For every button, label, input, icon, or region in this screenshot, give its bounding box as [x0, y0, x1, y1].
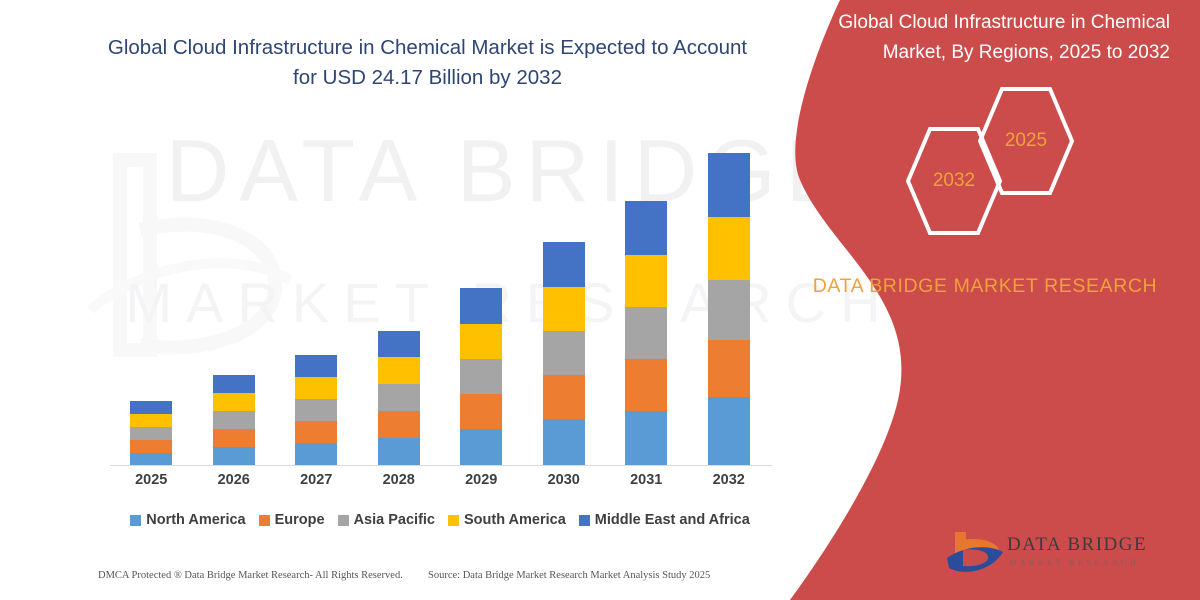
x-axis-label: 2031	[606, 472, 686, 496]
stacked-bar[interactable]	[295, 355, 337, 466]
legend-swatch-icon	[259, 515, 270, 526]
hexagon-start-year-label: 2025	[1005, 130, 1047, 152]
x-axis-label: 2027	[276, 472, 356, 496]
bar-segment[interactable]	[708, 340, 750, 397]
legend-item[interactable]: South America	[448, 512, 566, 528]
bar-group	[441, 288, 521, 466]
x-axis-label: 2028	[359, 472, 439, 496]
legend-item[interactable]: North America	[130, 512, 245, 528]
bar-series-container	[110, 140, 770, 466]
bar-segment[interactable]	[378, 331, 420, 357]
bar-segment[interactable]	[213, 447, 255, 466]
stacked-bar[interactable]	[460, 288, 502, 466]
bar-group	[111, 401, 191, 466]
bar-segment[interactable]	[543, 419, 585, 466]
legend-swatch-icon	[338, 515, 349, 526]
bar-segment[interactable]	[295, 399, 337, 421]
bar-segment[interactable]	[378, 357, 420, 384]
bar-segment[interactable]	[295, 355, 337, 377]
bar-group	[524, 242, 604, 466]
stacked-bar[interactable]	[130, 401, 172, 466]
bar-segment[interactable]	[625, 359, 667, 411]
bar-segment[interactable]	[708, 217, 750, 280]
legend-swatch-icon	[448, 515, 459, 526]
bar-segment[interactable]	[213, 411, 255, 429]
bar-segment[interactable]	[543, 242, 585, 287]
x-axis-label: 2030	[524, 472, 604, 496]
legend-label: Europe	[275, 512, 325, 528]
right-panel-content: Global Cloud Infrastructure in Chemical …	[770, 0, 1200, 600]
bar-segment[interactable]	[378, 438, 420, 466]
chart-title: Global Cloud Infrastructure in Chemical …	[95, 33, 760, 93]
x-axis-label: 2026	[194, 472, 274, 496]
bar-segment[interactable]	[130, 427, 172, 440]
infographic-page: DATA BRIDGE MARKET RESEARCH Global Cloud…	[0, 0, 1200, 600]
bar-segment[interactable]	[460, 429, 502, 466]
x-axis-tick-labels: 20252026202720282029203020312032	[110, 472, 770, 496]
source-note: Source: Data Bridge Market Research Mark…	[428, 570, 710, 581]
year-range-hexagons: 2032 2025	[900, 108, 1200, 238]
logo-title: DATA BRIDGE	[1007, 534, 1147, 556]
legend-label: Middle East and Africa	[595, 512, 750, 528]
legend-label: Asia Pacific	[354, 512, 435, 528]
bar-segment[interactable]	[130, 401, 172, 414]
bar-segment[interactable]	[625, 255, 667, 307]
legend-item[interactable]: Asia Pacific	[338, 512, 435, 528]
brand-name: DATA BRIDGE MARKET RESEARCH	[800, 272, 1170, 301]
legend-swatch-icon	[130, 515, 141, 526]
bar-segment[interactable]	[625, 307, 667, 359]
legend-item[interactable]: Europe	[259, 512, 325, 528]
legend-swatch-icon	[579, 515, 590, 526]
panel-title: Global Cloud Infrastructure in Chemical …	[825, 8, 1170, 68]
bar-group	[194, 375, 274, 466]
bar-segment[interactable]	[378, 384, 420, 411]
bar-segment[interactable]	[213, 393, 255, 411]
stacked-bar[interactable]	[213, 375, 255, 466]
x-axis-line	[110, 465, 772, 466]
legend-label: North America	[146, 512, 245, 528]
bar-segment[interactable]	[625, 201, 667, 255]
bar-segment[interactable]	[378, 411, 420, 438]
bar-segment[interactable]	[460, 359, 502, 394]
dmca-notice: DMCA Protected ® Data Bridge Market Rese…	[98, 570, 403, 581]
bar-segment[interactable]	[460, 324, 502, 359]
legend-item[interactable]: Middle East and Africa	[579, 512, 750, 528]
bar-segment[interactable]	[295, 421, 337, 443]
stacked-bar[interactable]	[378, 331, 420, 466]
bar-segment[interactable]	[543, 331, 585, 375]
bar-segment[interactable]	[460, 288, 502, 324]
bar-segment[interactable]	[130, 440, 172, 453]
bar-segment[interactable]	[295, 377, 337, 399]
bar-segment[interactable]	[543, 375, 585, 419]
x-axis-label: 2032	[689, 472, 769, 496]
bar-segment[interactable]	[708, 153, 750, 217]
chart-legend: North AmericaEuropeAsia PacificSouth Ame…	[110, 512, 770, 528]
hexagon-badge-start-year: 2025	[978, 86, 1074, 196]
stacked-bar[interactable]	[625, 201, 667, 466]
bar-segment[interactable]	[708, 397, 750, 466]
bar-segment[interactable]	[130, 414, 172, 427]
stacked-bar[interactable]	[708, 153, 750, 466]
logo-subtitle: MARKET RESEARCH	[1009, 558, 1139, 567]
x-axis-label: 2025	[111, 472, 191, 496]
bar-segment[interactable]	[625, 411, 667, 466]
chart-plot-area	[110, 140, 770, 466]
bar-segment[interactable]	[543, 287, 585, 331]
bar-segment[interactable]	[295, 443, 337, 466]
x-axis-label: 2029	[441, 472, 521, 496]
legend-label: South America	[464, 512, 566, 528]
bar-group	[689, 153, 769, 466]
bar-group	[359, 331, 439, 466]
bar-group	[606, 201, 686, 466]
hexagon-end-year-label: 2032	[933, 170, 975, 192]
bar-group	[276, 355, 356, 466]
data-bridge-logo: DATA BRIDGE MARKET RESEARCH	[945, 528, 1175, 586]
bar-segment[interactable]	[708, 280, 750, 340]
stacked-bar[interactable]	[543, 242, 585, 466]
bar-segment[interactable]	[460, 394, 502, 429]
bar-segment[interactable]	[213, 375, 255, 393]
bar-segment[interactable]	[213, 429, 255, 447]
logo-mark-icon	[945, 528, 1005, 580]
